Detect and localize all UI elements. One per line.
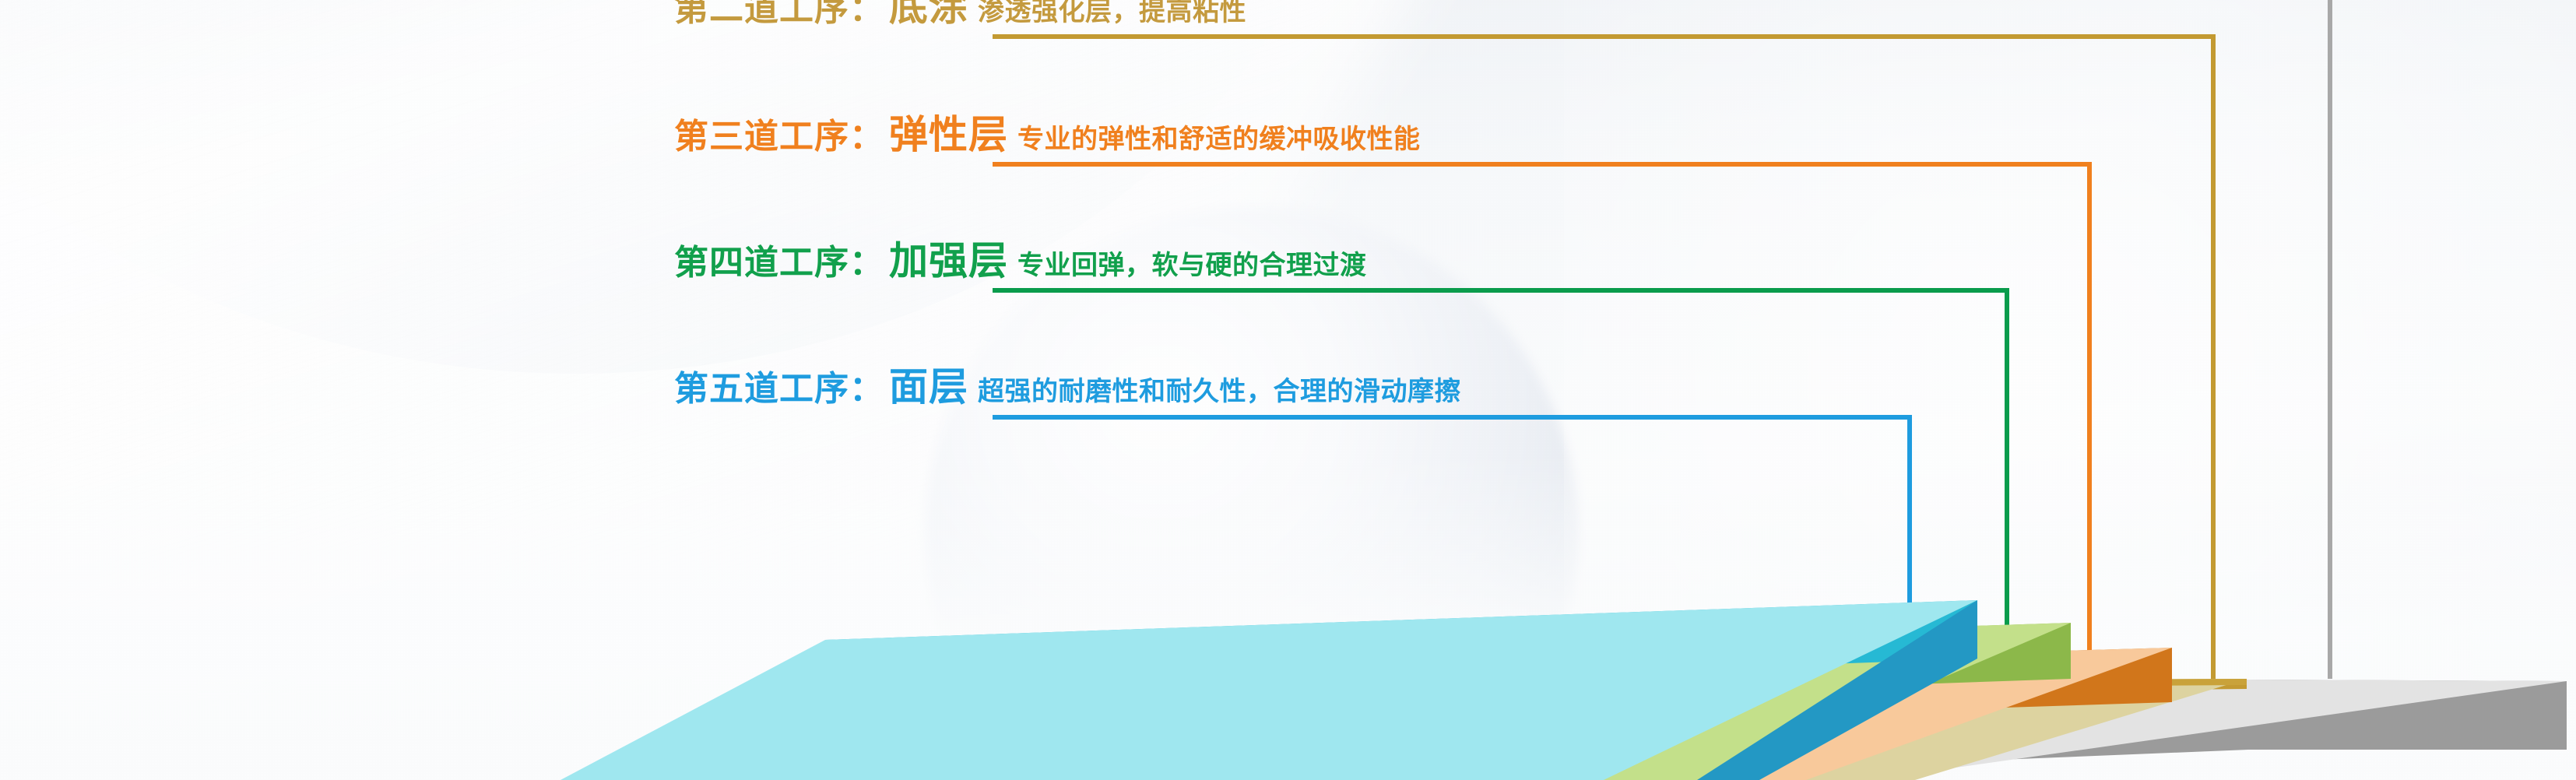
process-description-4: 专业回弹，软与硬的合理过渡 bbox=[1017, 251, 1367, 280]
process-layer-name-4: 加强层 bbox=[889, 239, 1008, 283]
process-description-3: 专业的弹性和舒适的缓冲吸收性能 bbox=[1017, 125, 1421, 154]
process-description-5: 超强的耐磨性和耐久性，合理的滑动摩擦 bbox=[978, 377, 1461, 406]
process-layer-name-2: 底涂 bbox=[889, 0, 968, 29]
diagram-canvas: 第二道工序：底涂渗透强化层，提高粘性 第三道工序：弹性层专业的弹性和舒适的缓冲吸… bbox=[0, 0, 2576, 780]
process-description-2: 渗透强化层，提高粘性 bbox=[978, 0, 1246, 26]
process-step-label-5: 第五道工序： bbox=[674, 370, 884, 408]
process-step-label-4: 第四道工序： bbox=[674, 244, 884, 282]
process-layer-name-5: 面层 bbox=[889, 365, 968, 409]
process-step-label-3: 第三道工序： bbox=[674, 118, 884, 156]
process-step-label-2: 第二道工序： bbox=[674, 0, 884, 28]
process-row-5[interactable]: 第五道工序：面层超强的耐磨性和耐久性，合理的滑动摩擦 bbox=[674, 367, 1461, 406]
process-row-2[interactable]: 第二道工序：底涂渗透强化层，提高粘性 bbox=[674, 0, 1246, 26]
process-row-4[interactable]: 第四道工序：加强层专业回弹，软与硬的合理过渡 bbox=[674, 241, 1367, 280]
process-layer-name-3: 弹性层 bbox=[889, 113, 1008, 156]
process-row-3[interactable]: 第三道工序：弹性层专业的弹性和舒适的缓冲吸收性能 bbox=[674, 115, 1421, 154]
